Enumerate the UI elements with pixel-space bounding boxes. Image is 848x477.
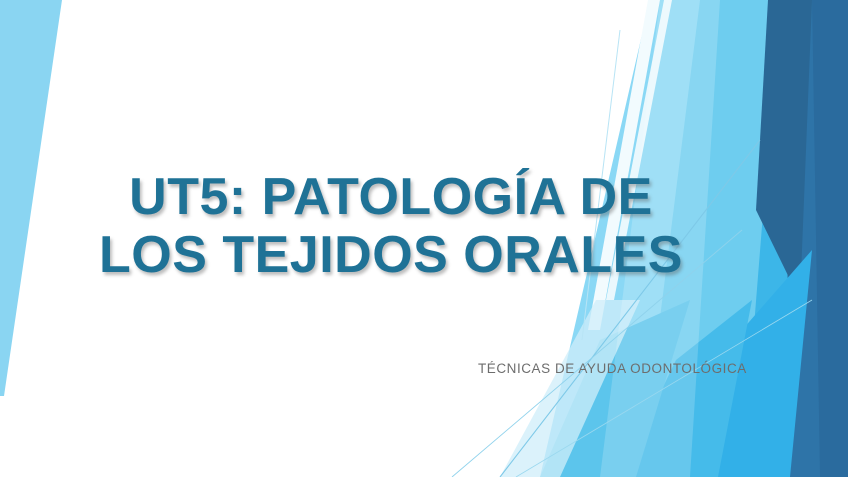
subtitle-placeholder[interactable]: TÉCNICAS DE AYUDA ODONTOLÓGICA	[478, 360, 768, 378]
presentation-slide: UT5: PATOLOGÍA DE LOS TEJIDOS ORALES TÉC…	[0, 0, 848, 477]
slide-subtitle[interactable]: TÉCNICAS DE AYUDA ODONTOLÓGICA	[478, 360, 768, 378]
title-placeholder[interactable]: UT5: PATOLOGÍA DE LOS TEJIDOS ORALES	[0, 168, 782, 284]
page-title[interactable]: UT5: PATOLOGÍA DE LOS TEJIDOS ORALES	[0, 168, 782, 284]
